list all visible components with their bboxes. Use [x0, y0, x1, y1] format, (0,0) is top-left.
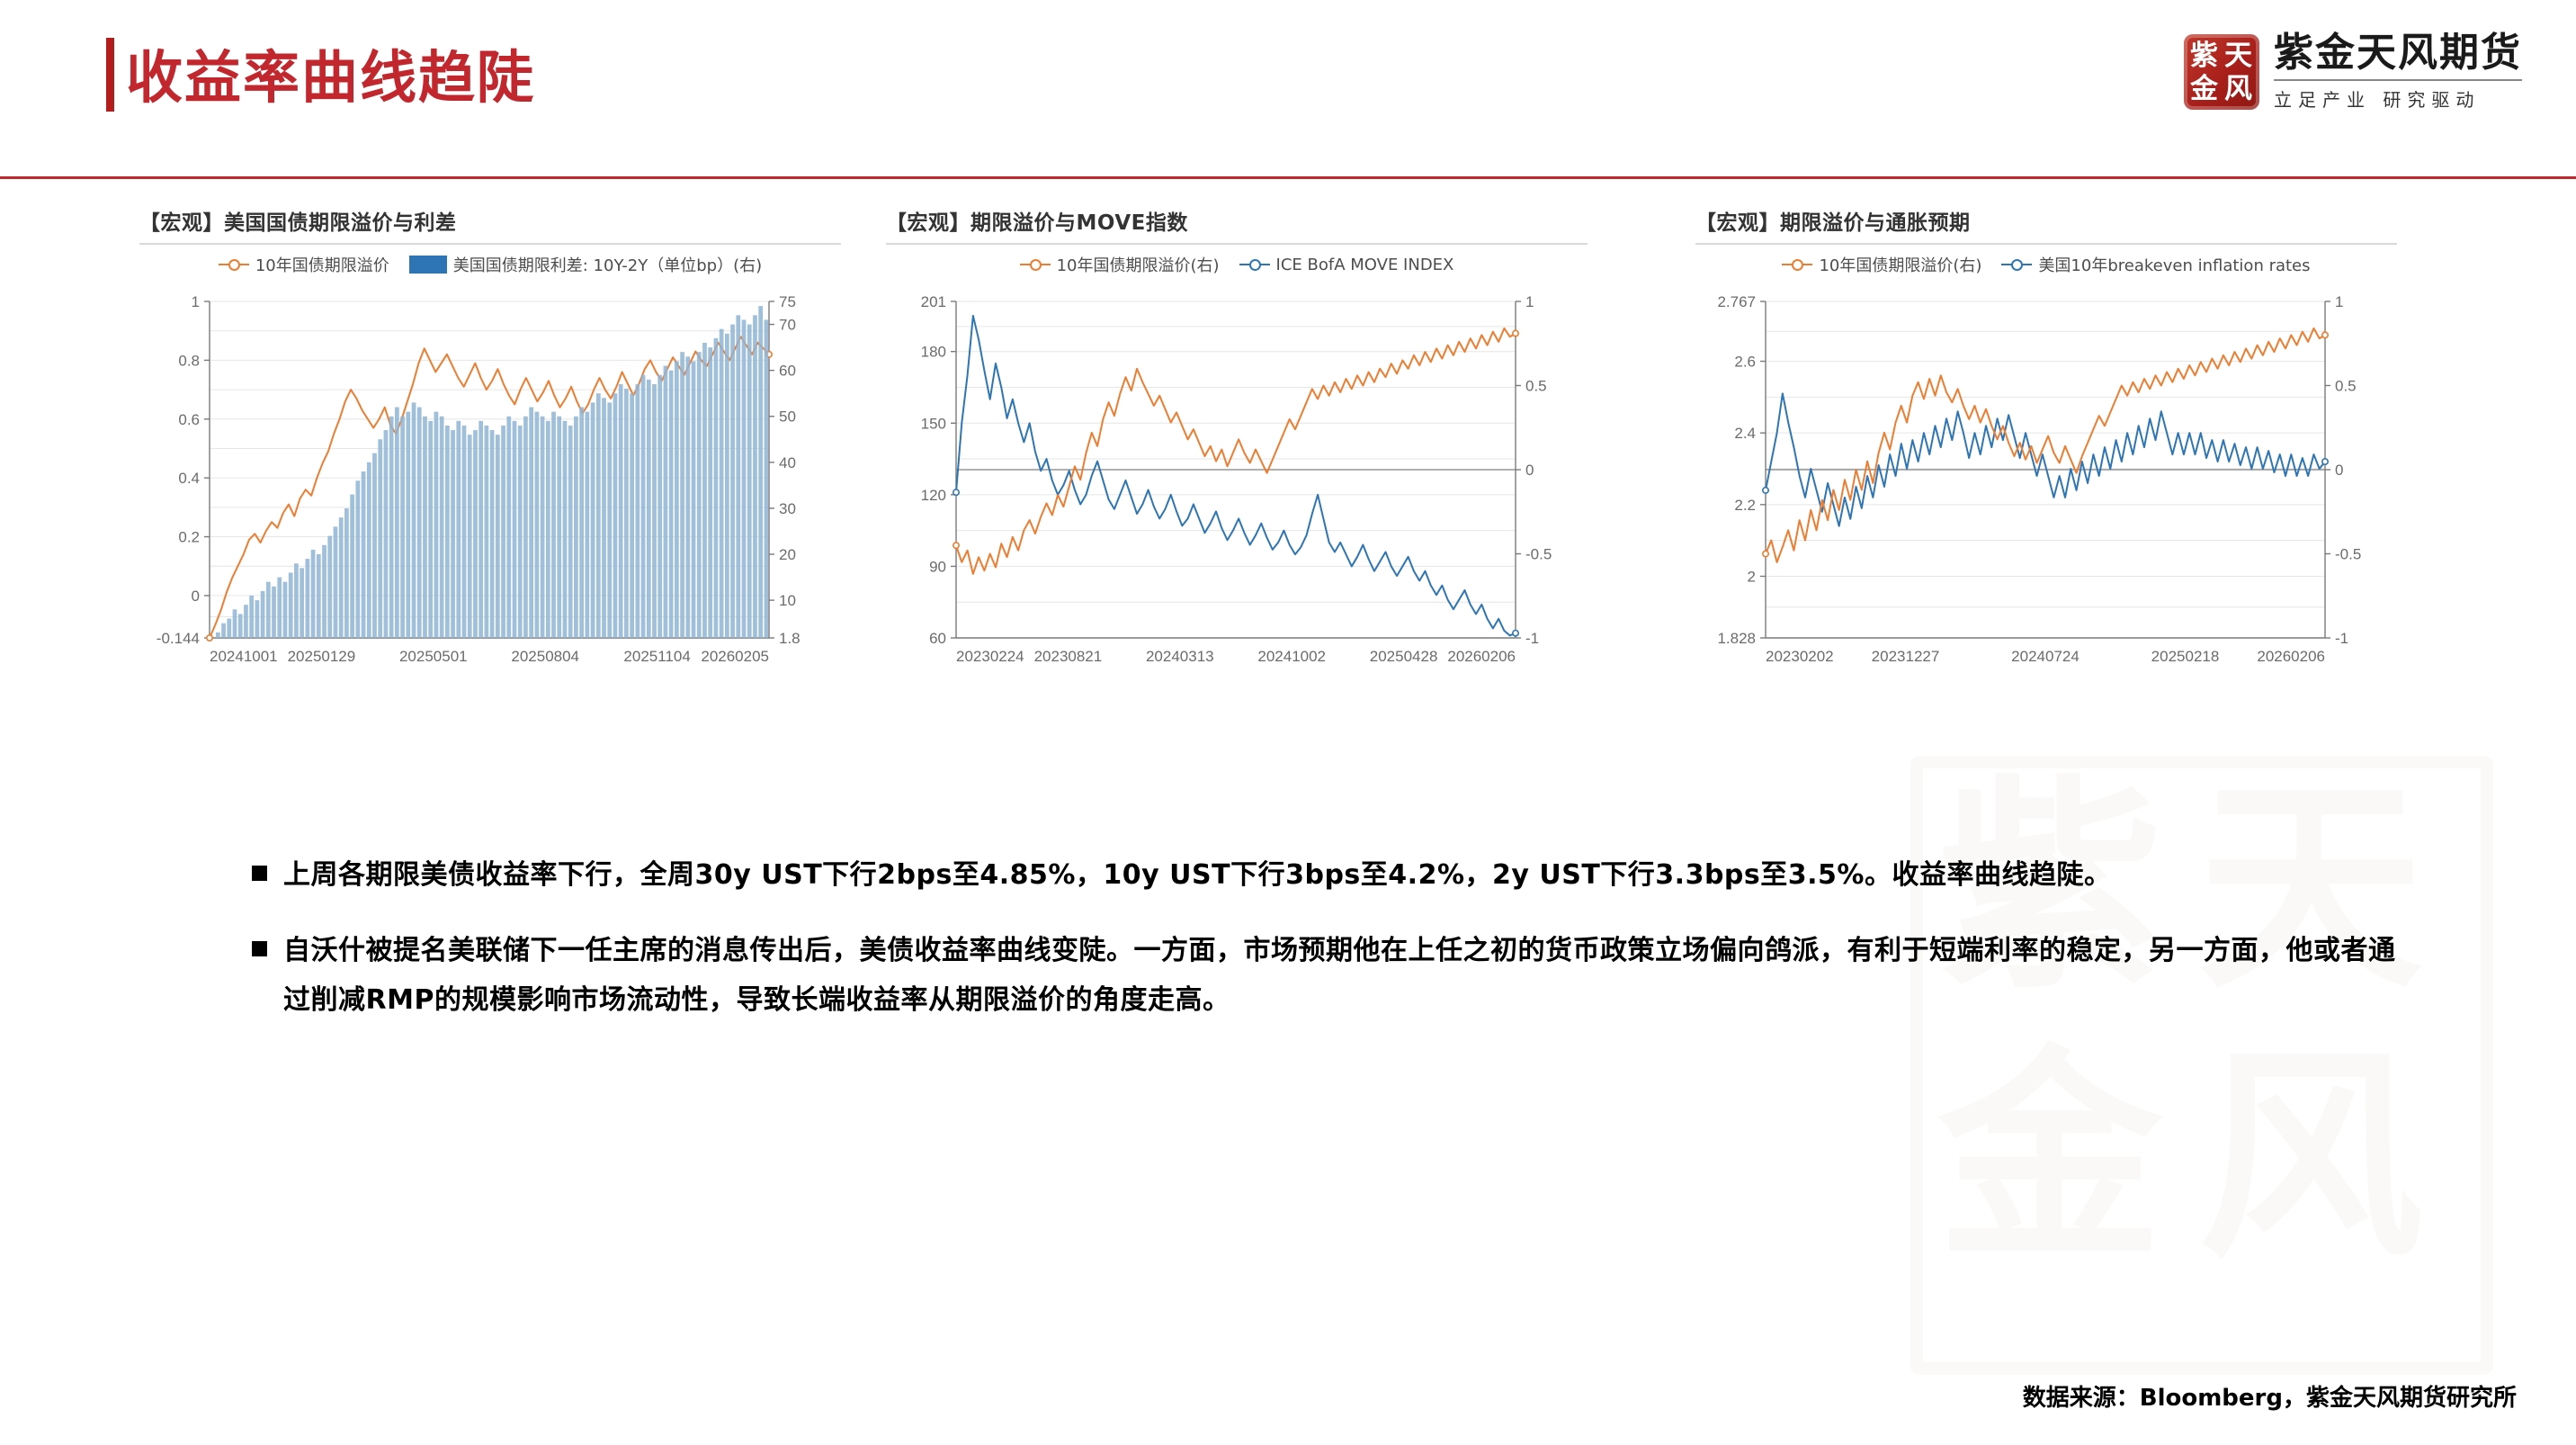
- legend-line-marker-icon: [2001, 258, 2032, 271]
- svg-text:-0.5: -0.5: [2335, 546, 2361, 563]
- svg-text:20250501: 20250501: [399, 648, 468, 665]
- svg-text:10: 10: [779, 592, 796, 609]
- legend-item: 美国国债期限利差: 10Y-2Y（单位bp）(右): [409, 253, 762, 276]
- chart-legend: 10年国债期限溢价 美国国债期限利差: 10Y-2Y（单位bp）(右): [139, 253, 841, 276]
- bullet-list: 上周各期限美债收益率下行，全周30y UST下行2bps至4.85%，10y U…: [252, 850, 2411, 1051]
- seal-char-3: 金: [2190, 76, 2218, 103]
- legend-label: 美国10年breakeven inflation rates: [2038, 253, 2310, 276]
- svg-text:0.5: 0.5: [2335, 378, 2357, 395]
- svg-text:0: 0: [1525, 462, 1534, 479]
- svg-text:20250218: 20250218: [2151, 648, 2220, 665]
- svg-text:-1: -1: [1525, 630, 1539, 647]
- svg-text:70: 70: [779, 317, 796, 334]
- svg-text:120: 120: [921, 487, 946, 504]
- watermark-border: [1910, 756, 2493, 1375]
- legend-line-marker-icon: [1020, 258, 1051, 271]
- svg-text:20241001: 20241001: [210, 648, 278, 665]
- legend-label: ICE BofA MOVE INDEX: [1276, 256, 1454, 274]
- watermark: 紫 天 金 风: [1883, 747, 2513, 1377]
- svg-text:0.4: 0.4: [178, 470, 200, 487]
- svg-text:20260205: 20260205: [701, 648, 769, 665]
- chart-title: 【宏观】美国国债期限溢价与利差: [139, 205, 841, 236]
- svg-text:1: 1: [1525, 293, 1534, 310]
- plot-area: 201180150120906010.50-0.5-12023022420230…: [886, 285, 1588, 735]
- bullet-square-icon: [252, 941, 267, 956]
- svg-text:1.828: 1.828: [1717, 630, 1756, 647]
- svg-text:20230202: 20230202: [1766, 648, 1834, 665]
- chart-card-term-premium-move: 【宏观】期限溢价与MOVE指数 10年国债期限溢价(右) ICE BofA MO…: [886, 205, 1588, 745]
- title-accent-bar: [106, 38, 114, 112]
- svg-text:20250129: 20250129: [288, 648, 356, 665]
- company-name: 紫金天风期货: [2274, 32, 2522, 74]
- chart-title-divider: [1695, 243, 2397, 245]
- page-header: 收益率曲线趋陡 紫 天 金 风 紫金天风期货 立足产业 研究驱动: [0, 0, 2576, 173]
- svg-text:20260206: 20260206: [2257, 648, 2325, 665]
- svg-text:2.2: 2.2: [1734, 497, 1756, 514]
- legend-label: 10年国债期限溢价(右): [1057, 253, 1220, 276]
- legend-line-marker-icon: [1782, 258, 1812, 271]
- svg-text:201: 201: [921, 293, 946, 310]
- svg-text:20240724: 20240724: [2011, 648, 2080, 665]
- legend-line-marker-icon: [1239, 258, 1270, 271]
- svg-text:-0.5: -0.5: [1525, 546, 1552, 563]
- legend-item: 10年国债期限溢价: [219, 253, 389, 276]
- chart-legend: 10年国债期限溢价(右) ICE BofA MOVE INDEX: [886, 253, 1588, 276]
- bullet-text: 自沃什被提名美联储下一任主席的消息传出后，美债收益率曲线变陡。一方面，市场预期他…: [283, 926, 2411, 1026]
- svg-text:20: 20: [779, 546, 796, 563]
- legend-label: 10年国债期限溢价(右): [1819, 253, 1981, 276]
- chart-svg: 10.80.60.40.20-0.14475706050403020101.82…: [139, 285, 841, 717]
- seal-icon: 紫 天 金 风: [2184, 34, 2259, 110]
- svg-text:1: 1: [2335, 293, 2343, 310]
- svg-text:20230821: 20230821: [1034, 648, 1103, 665]
- svg-text:1.8: 1.8: [779, 630, 801, 647]
- svg-text:60: 60: [779, 363, 796, 380]
- svg-text:50: 50: [779, 408, 796, 426]
- plot-area: 10.80.60.40.20-0.14475706050403020101.82…: [139, 285, 841, 735]
- legend-item: ICE BofA MOVE INDEX: [1239, 256, 1454, 274]
- svg-text:20250428: 20250428: [1370, 648, 1438, 665]
- legend-item: 10年国债期限溢价(右): [1020, 253, 1220, 276]
- svg-text:0: 0: [2335, 462, 2343, 479]
- svg-text:30: 30: [779, 500, 796, 517]
- charts-row: 【宏观】美国国债期限溢价与利差 10年国债期限溢价 美国国债期限利差: 10Y-…: [0, 205, 2576, 763]
- chart-title: 【宏观】期限溢价与MOVE指数: [886, 205, 1588, 236]
- chart-legend: 10年国债期限溢价(右) 美国10年breakeven inflation ra…: [1695, 253, 2397, 276]
- legend-label: 美国国债期限利差: 10Y-2Y（单位bp）(右): [453, 253, 762, 276]
- svg-text:20250804: 20250804: [511, 648, 579, 665]
- svg-text:0.8: 0.8: [178, 352, 200, 369]
- chart-title-divider: [886, 243, 1588, 245]
- svg-text:2: 2: [1748, 568, 1756, 585]
- plot-area: 2.7672.62.42.221.82810.50-0.5-1202302022…: [1695, 285, 2397, 735]
- svg-text:0.6: 0.6: [178, 411, 200, 428]
- seal-char-1: 紫: [2190, 42, 2218, 70]
- svg-text:2.6: 2.6: [1734, 354, 1756, 371]
- chart-title-divider: [139, 243, 841, 245]
- svg-text:20260206: 20260206: [1447, 648, 1516, 665]
- legend-box-marker-icon: [409, 256, 447, 274]
- bullet-square-icon: [252, 866, 267, 881]
- svg-text:0: 0: [192, 588, 200, 605]
- svg-text:2.4: 2.4: [1734, 425, 1756, 442]
- svg-text:150: 150: [921, 415, 946, 432]
- svg-text:20230224: 20230224: [956, 648, 1024, 665]
- data-source-note: 数据来源：Bloomberg，紫金天风期货研究所: [2023, 1379, 2517, 1413]
- company-tagline: 立足产业 研究驱动: [2274, 85, 2522, 112]
- logo-divider: [2274, 79, 2522, 81]
- bullet-text: 上周各期限美债收益率下行，全周30y UST下行2bps至4.85%，10y U…: [283, 850, 2111, 901]
- svg-text:180: 180: [921, 344, 946, 361]
- legend-label: 10年国债期限溢价: [255, 253, 389, 276]
- chart-svg: 201180150120906010.50-0.5-12023022420230…: [886, 285, 1588, 717]
- svg-text:60: 60: [929, 630, 946, 647]
- svg-text:20241002: 20241002: [1257, 648, 1326, 665]
- legend-item: 10年国债期限溢价(右): [1782, 253, 1981, 276]
- svg-text:20251104: 20251104: [623, 648, 690, 665]
- logo-text-block: 紫金天风期货 立足产业 研究驱动: [2274, 32, 2522, 112]
- svg-text:-0.144: -0.144: [157, 630, 200, 647]
- company-logo: 紫 天 金 风 紫金天风期货 立足产业 研究驱动: [2184, 32, 2522, 112]
- watermark-char-4: 风: [2198, 1044, 2423, 1269]
- watermark-char-3: 金: [1937, 1044, 2162, 1269]
- svg-text:40: 40: [779, 454, 796, 471]
- chart-svg: 2.7672.62.42.221.82810.50-0.5-1202302022…: [1695, 285, 2397, 717]
- svg-text:20240313: 20240313: [1146, 648, 1214, 665]
- svg-text:75: 75: [779, 293, 796, 310]
- chart-title: 【宏观】期限溢价与通胀预期: [1695, 205, 2397, 236]
- svg-text:0.5: 0.5: [1525, 378, 1547, 395]
- svg-text:0.2: 0.2: [178, 529, 200, 546]
- chart-card-term-premium-inflation: 【宏观】期限溢价与通胀预期 10年国债期限溢价(右) 美国10年breakeve…: [1695, 205, 2397, 745]
- svg-text:2.767: 2.767: [1717, 293, 1756, 310]
- svg-text:-1: -1: [2335, 630, 2348, 647]
- chart-card-term-premium-spread: 【宏观】美国国债期限溢价与利差 10年国债期限溢价 美国国债期限利差: 10Y-…: [139, 205, 841, 745]
- legend-line-marker-icon: [219, 258, 249, 271]
- svg-text:1: 1: [192, 293, 200, 310]
- list-item: 自沃什被提名美联储下一任主席的消息传出后，美债收益率曲线变陡。一方面，市场预期他…: [252, 926, 2411, 1026]
- svg-text:20231227: 20231227: [1872, 648, 1940, 665]
- page-title: 收益率曲线趋陡: [126, 32, 535, 114]
- seal-char-2: 天: [2224, 42, 2252, 70]
- seal-char-4: 风: [2224, 76, 2252, 103]
- list-item: 上周各期限美债收益率下行，全周30y UST下行2bps至4.85%，10y U…: [252, 850, 2411, 901]
- header-rule: [0, 176, 2576, 179]
- legend-item: 美国10年breakeven inflation rates: [2001, 253, 2310, 276]
- svg-text:90: 90: [929, 558, 946, 575]
